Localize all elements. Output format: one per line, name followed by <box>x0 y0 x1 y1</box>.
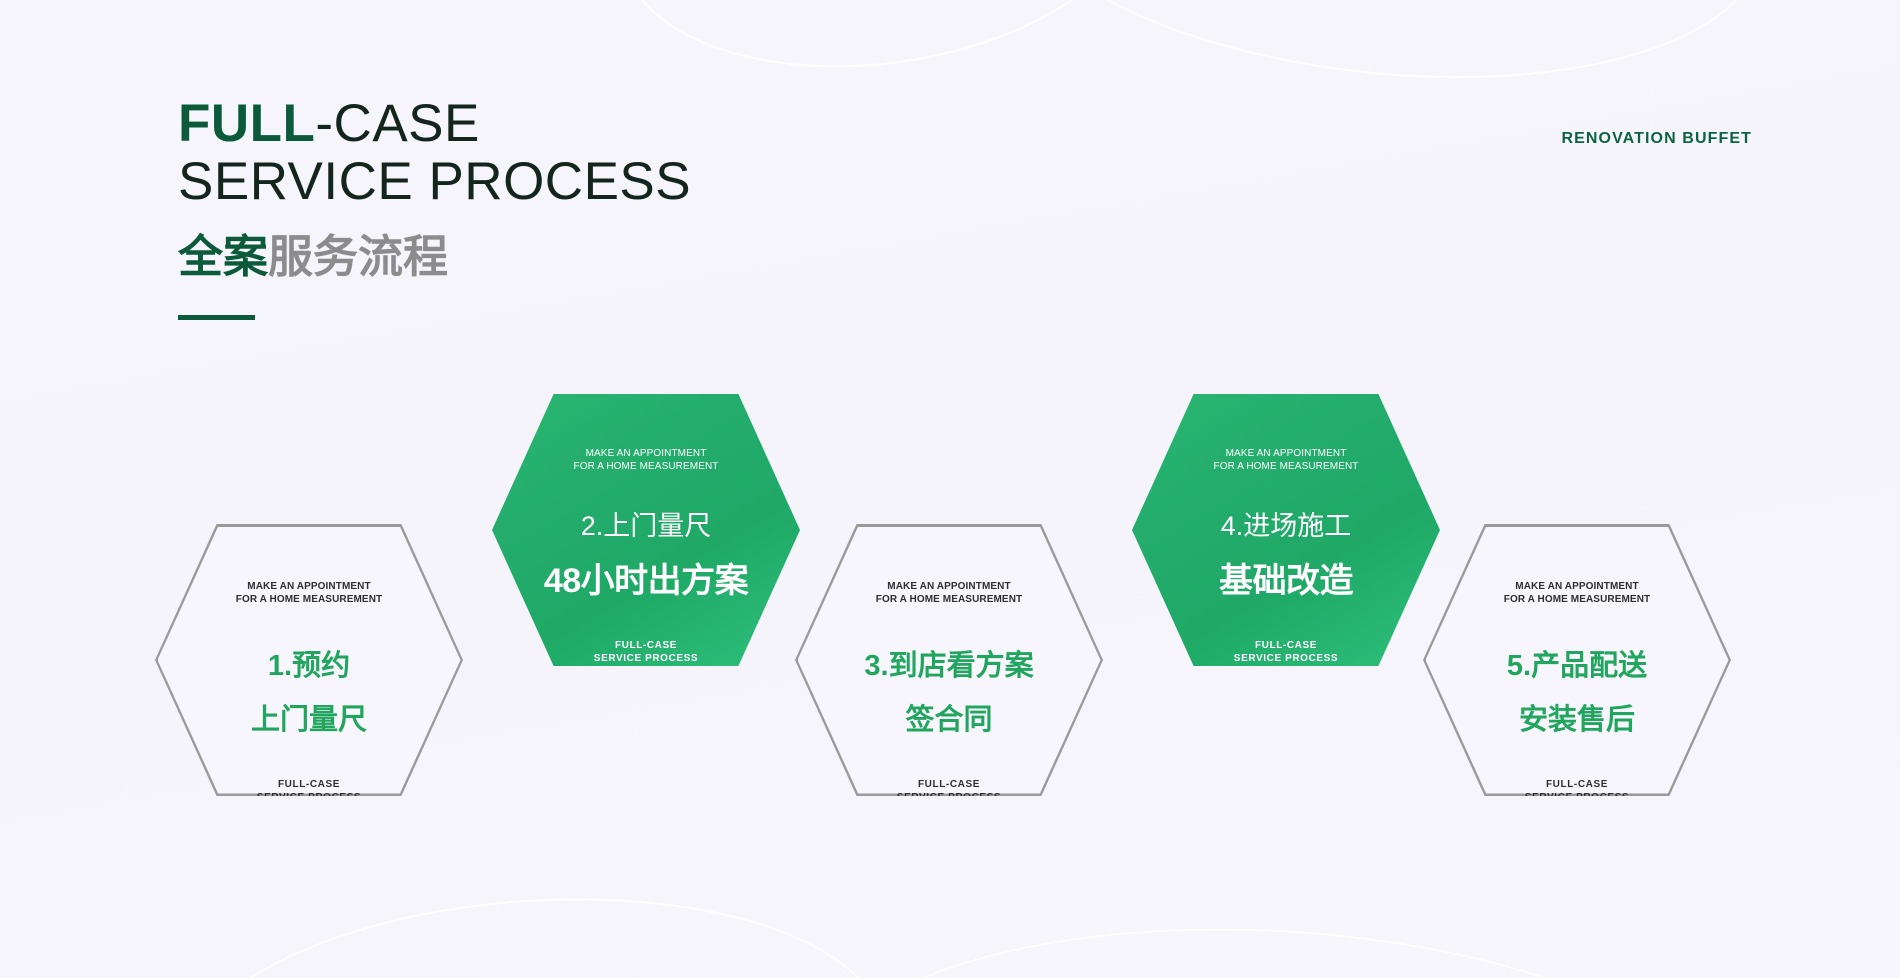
step-title-chinese: 5.产品配送 安装售后 <box>1507 630 1647 756</box>
step-title-chinese: 2.上门量尺 48小时出方案 <box>544 491 748 619</box>
step-footer-english: FULL-CASE SERVICE PROCESS <box>1234 639 1338 665</box>
step-subtitle-english: MAKE AN APPOINTMENT FOR A HOME MEASUREME… <box>574 447 719 473</box>
step-subtitle-english: MAKE AN APPOINTMENT FOR A HOME MEASUREME… <box>876 580 1022 606</box>
step-subtitle-english: MAKE AN APPOINTMENT FOR A HOME MEASUREME… <box>1504 580 1650 606</box>
step-title-line-1: 2.上门量尺 <box>544 509 748 543</box>
step-title-line-2: 安装售后 <box>1507 702 1647 738</box>
step-title-line-1: 5.产品配送 <box>1507 648 1647 684</box>
step-title-line-2: 签合同 <box>864 702 1033 738</box>
step-title-chinese: 1.预约 上门量尺 <box>251 630 367 756</box>
step-title-line-1: 3.到店看方案 <box>864 648 1033 684</box>
hexagon-content-3: MAKE AN APPOINTMENT FOR A HOME MEASUREME… <box>795 524 1103 796</box>
process-step-hexagon-1[interactable]: MAKE AN APPOINTMENT FOR A HOME MEASUREME… <box>155 524 463 796</box>
step-title-line-1: 1.预约 <box>251 648 367 684</box>
step-title-chinese: 3.到店看方案 签合同 <box>864 630 1033 756</box>
step-footer-english: FULL-CASE SERVICE PROCESS <box>257 778 361 804</box>
process-step-hexagon-4[interactable]: MAKE AN APPOINTMENT FOR A HOME MEASUREME… <box>1132 394 1440 666</box>
hexagon-content-2: MAKE AN APPOINTMENT FOR A HOME MEASUREME… <box>492 394 800 666</box>
step-subtitle-english: MAKE AN APPOINTMENT FOR A HOME MEASUREME… <box>236 580 382 606</box>
step-footer-english: FULL-CASE SERVICE PROCESS <box>1525 778 1629 804</box>
step-title-line-2: 基础改造 <box>1219 561 1353 601</box>
process-step-hexagon-5[interactable]: MAKE AN APPOINTMENT FOR A HOME MEASUREME… <box>1423 524 1731 796</box>
hexagon-content-1: MAKE AN APPOINTMENT FOR A HOME MEASUREME… <box>155 524 463 796</box>
process-step-hexagon-3[interactable]: MAKE AN APPOINTMENT FOR A HOME MEASUREME… <box>795 524 1103 796</box>
process-step-hexagon-2[interactable]: MAKE AN APPOINTMENT FOR A HOME MEASUREME… <box>492 394 800 666</box>
hexagon-content-5: MAKE AN APPOINTMENT FOR A HOME MEASUREME… <box>1423 524 1731 796</box>
step-title-line-2: 上门量尺 <box>251 702 367 738</box>
slide-canvas: FULL-CASE SERVICE PROCESS 全案服务流程 RENOVAT… <box>0 0 1900 978</box>
hexagon-content-4: MAKE AN APPOINTMENT FOR A HOME MEASUREME… <box>1132 394 1440 666</box>
step-title-line-2: 48小时出方案 <box>544 561 748 601</box>
step-title-chinese: 4.进场施工 基础改造 <box>1219 491 1353 619</box>
step-footer-english: FULL-CASE SERVICE PROCESS <box>594 639 698 665</box>
process-steps-row: MAKE AN APPOINTMENT FOR A HOME MEASUREME… <box>0 0 1900 978</box>
step-footer-english: FULL-CASE SERVICE PROCESS <box>897 778 1001 804</box>
step-subtitle-english: MAKE AN APPOINTMENT FOR A HOME MEASUREME… <box>1214 447 1359 473</box>
step-title-line-1: 4.进场施工 <box>1219 509 1353 543</box>
